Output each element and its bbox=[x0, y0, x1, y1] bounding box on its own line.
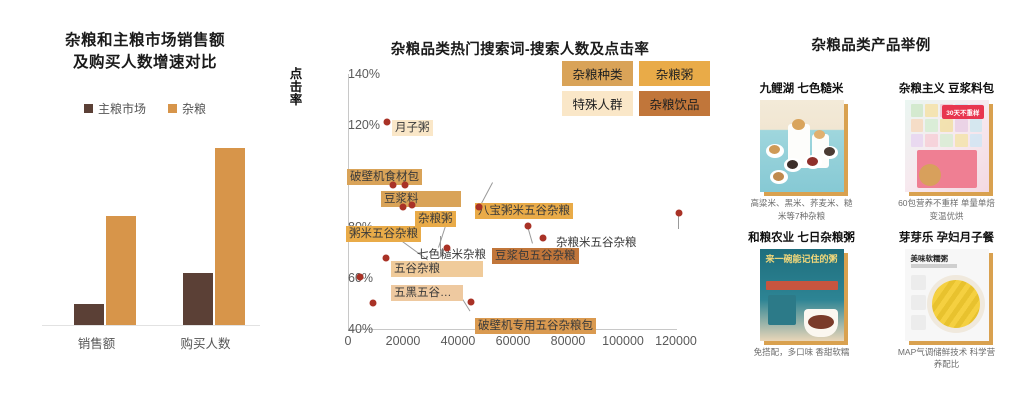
bar-chart-title-line1: 杂粮和主粮市场销售额 bbox=[20, 30, 270, 52]
bar-chart-baseline bbox=[42, 325, 260, 326]
product-photo-brown-rice bbox=[760, 100, 844, 192]
data-point-unlabeled bbox=[370, 300, 377, 307]
data-point-zaliangmiwugu bbox=[540, 235, 547, 242]
bar-chart-title: 杂粮和主粮市场销售额 及购买人数增速对比 bbox=[20, 30, 270, 75]
scatter-y-axis-label: 点击率 bbox=[288, 68, 304, 107]
scatter-chart-title: 杂粮品类热门搜索词-搜索人数及点击率 bbox=[330, 38, 710, 59]
product-photo-seven-day-porridge: 来一碗能记住的粥 bbox=[760, 249, 844, 341]
product-card-heliang[interactable]: 和粮农业 七日杂粮粥 来一碗能记住的粥 免搭配，多口味 香甜软糯 bbox=[738, 229, 865, 372]
product-caption: 60包营养不重样 单量单焙 变温优烘 bbox=[895, 197, 999, 223]
point-label-pobijishicaibao: 破壁机食材包 bbox=[347, 169, 422, 185]
point-label-zhoumiwugu: 粥米五谷杂粮 bbox=[346, 226, 421, 242]
products-panel-title: 杂粮品类产品举例 bbox=[710, 34, 1032, 55]
packshot-headline: 美味软糯粥 bbox=[911, 253, 949, 264]
bar-chart-legend: 主粮市场 杂粮 bbox=[20, 100, 270, 117]
bar-buyers-zhuliang bbox=[183, 273, 213, 326]
product-image bbox=[760, 100, 844, 192]
product-card-jiulihu[interactable]: 九鲤湖 七色糙米 bbox=[738, 80, 865, 223]
data-point-doujiangbao bbox=[676, 210, 683, 217]
data-point-qisecaomi bbox=[444, 245, 451, 252]
point-label-wuheiwugu: 五黑五谷… bbox=[391, 285, 463, 301]
legend-item-zhuliang: 主粮市场 bbox=[84, 100, 146, 117]
product-caption: 免搭配，多口味 香甜软糯 bbox=[750, 346, 854, 359]
products-grid: 九鲤湖 七色糙米 bbox=[738, 80, 1010, 371]
data-point-zhoumiwugu bbox=[476, 204, 483, 211]
data-point-wuheiwugu bbox=[357, 274, 364, 281]
bar-sales-zaliang bbox=[106, 216, 136, 326]
packshot-headline: 来一碗能记住的粥 bbox=[766, 254, 838, 265]
data-point-doujiangliao bbox=[402, 182, 409, 189]
product-photo-maternity-meal: 美味软糯粥 bbox=[905, 249, 989, 341]
data-point-pobijizhuanyong bbox=[468, 299, 475, 306]
product-image: 美味软糯粥 bbox=[905, 249, 989, 341]
x-tick-0: 0 bbox=[345, 334, 352, 348]
product-card-yayale[interactable]: 芽芽乐 孕妇月子餐 美味软糯粥 MAP气调储鲜技术 科学营养配比 bbox=[883, 229, 1010, 372]
data-point-zaliangzhou bbox=[400, 204, 407, 211]
product-image: 30天不重样 bbox=[905, 100, 989, 192]
point-label-doujiangliao: 豆浆料 bbox=[381, 191, 461, 207]
x-tick-40000: 40000 bbox=[441, 334, 476, 348]
legend-label-zaliang: 杂粮 bbox=[182, 100, 206, 117]
point-label-yuezizhou: 月子粥 bbox=[392, 120, 433, 136]
legend-label-zhuliang: 主粮市场 bbox=[98, 100, 146, 117]
product-caption: 高粱米、黑米、荞麦米、糙米等7种杂粮 bbox=[750, 197, 854, 223]
x-tick-120000: 120000 bbox=[655, 334, 697, 348]
scatter-plot-area: 破壁机食材包 豆浆料 杂粮粥 八宝粥米五谷杂粮 粥米五谷杂粮 七色糙米杂粮 杂粮… bbox=[348, 74, 677, 329]
promo-tag: 30天不重样 bbox=[942, 105, 983, 119]
product-card-zaliangzhuyi[interactable]: 杂粮主义 豆浆料包 bbox=[883, 80, 1010, 223]
product-name: 杂粮主义 豆浆料包 bbox=[899, 80, 994, 96]
bar-category-buyers: 购买人数 bbox=[151, 333, 260, 352]
bar-category-sales: 销售额 bbox=[42, 333, 151, 352]
x-tick-20000: 20000 bbox=[386, 334, 421, 348]
point-label-zaliangzhou: 杂粮粥 bbox=[415, 211, 456, 227]
legend-swatch-zhuliang bbox=[84, 104, 93, 113]
legend-swatch-zaliang bbox=[168, 104, 177, 113]
point-label-babaozhou: 八宝粥米五谷杂粮 bbox=[475, 203, 573, 219]
product-name: 九鲤湖 七色糙米 bbox=[760, 80, 844, 96]
x-tick-60000: 60000 bbox=[496, 334, 531, 348]
bar-buyers-zaliang bbox=[215, 148, 245, 326]
scatter-chart-panel: 杂粮品类热门搜索词-搜索人数及点击率 点击率 140% 120% 100% 80… bbox=[290, 0, 710, 420]
data-point-pobijishicai bbox=[390, 182, 397, 189]
data-point-babaozhou bbox=[409, 202, 416, 209]
product-name: 和粮农业 七日杂粮粥 bbox=[748, 229, 855, 245]
data-point-wuguzaliang bbox=[383, 255, 390, 262]
product-image: 来一碗能记住的粥 bbox=[760, 249, 844, 341]
point-label-doujiangbao: 豆浆包五谷杂粮 bbox=[492, 248, 579, 264]
point-label-wuguzaliang: 五谷杂粮 bbox=[391, 261, 483, 277]
x-tick-100000: 100000 bbox=[602, 334, 644, 348]
legend-item-zaliang: 杂粮 bbox=[168, 100, 206, 117]
bar-chart-title-line2: 及购买人数增速对比 bbox=[20, 52, 270, 74]
bar-chart-panel: 杂粮和主粮市场销售额 及购买人数增速对比 主粮市场 杂粮 销售额 购买人数 bbox=[0, 0, 290, 420]
bar-sales-zhuliang bbox=[74, 304, 104, 326]
bar-chart-categories: 销售额 购买人数 bbox=[42, 333, 260, 352]
product-photo-soymilk-packs: 30天不重样 bbox=[905, 100, 989, 192]
bar-chart-plot bbox=[42, 140, 260, 326]
point-label-pobijizhuanyong: 破壁机专用五谷杂粮包 bbox=[475, 318, 596, 334]
data-point-yuezizhou bbox=[384, 119, 391, 126]
products-panel: 杂粮品类产品举例 九鲤湖 七色糙米 bbox=[710, 0, 1032, 420]
x-tick-80000: 80000 bbox=[551, 334, 586, 348]
data-point-extra bbox=[525, 223, 532, 230]
product-caption: MAP气调储鲜技术 科学营养配比 bbox=[895, 346, 999, 372]
product-name: 芽芽乐 孕妇月子餐 bbox=[899, 229, 994, 245]
